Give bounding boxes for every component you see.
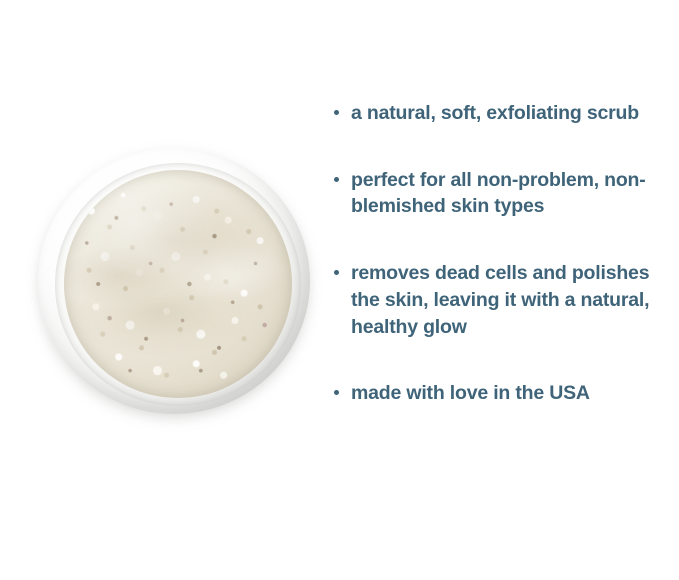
feature-item-3: removes dead cells and polishes the skin… [334,260,672,340]
bullet-dot-icon [334,390,339,395]
feature-text-2: perfect for all non-problem, non-blemish… [351,167,672,220]
bullet-dot-icon [334,177,339,182]
scrub-specular-highlight [64,170,292,398]
bullet-dot-icon [334,270,339,275]
bullet-dot-icon [334,110,339,115]
feature-item-1: a natural, soft, exfoliating scrub [334,100,672,127]
feature-text-1: a natural, soft, exfoliating scrub [351,100,639,127]
feature-item-4: made with love in the USA [334,380,672,407]
jar-body [38,148,310,414]
feature-text-3: removes dead cells and polishes the skin… [351,260,672,340]
feature-item-2: perfect for all non-problem, non-blemish… [334,167,672,220]
feature-bullet-list: a natural, soft, exfoliating scrub perfe… [334,100,672,407]
product-image-jar-of-scrub [34,143,314,418]
scrub-product-surface [64,170,292,398]
feature-text-4: made with love in the USA [351,380,590,407]
product-infographic: a natural, soft, exfoliating scrub perfe… [0,0,679,580]
